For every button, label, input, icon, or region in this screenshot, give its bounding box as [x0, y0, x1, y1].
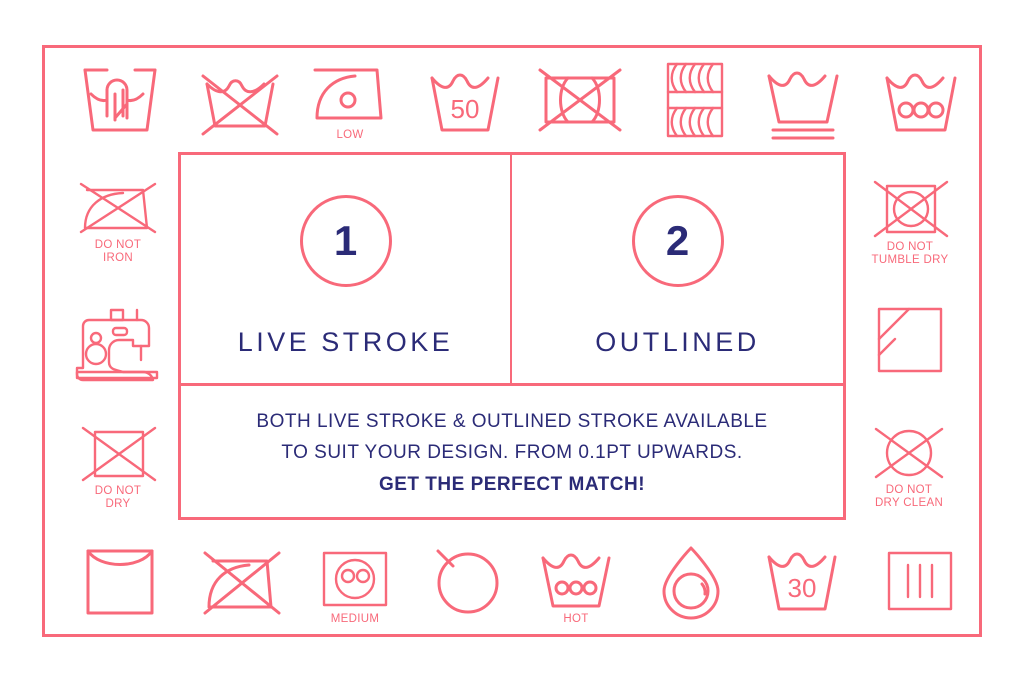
water-droplet-icon — [656, 544, 726, 618]
icon-caption: DO NOT DRY CLEAN — [875, 484, 943, 510]
icon-cell-wash-three-dots — [875, 60, 967, 143]
icon-cell-sewing-machine — [65, 300, 169, 383]
icon-cell-wash-30: 30 — [755, 545, 847, 620]
icon-cell-do-not-tumble-dry: DO NOT TUMBLE DRY — [858, 178, 962, 267]
panel-label-2: OUTLINED — [595, 327, 760, 358]
panel-outlined: 2 OUTLINED — [512, 155, 843, 383]
do-not-tumble-dry-icon — [861, 178, 959, 238]
icon-caption: MEDIUM — [331, 613, 379, 626]
do-not-dry-icon — [73, 424, 163, 482]
panel-number-badge-1: 1 — [300, 195, 392, 287]
wash-30-icon: 30 — [759, 545, 843, 617]
center-panel-block: 1 LIVE STROKE 2 OUTLINED BOTH LIVE STROK… — [178, 152, 846, 520]
button-medium-icon — [319, 548, 391, 610]
panel-label-1: LIVE STROKE — [238, 327, 454, 358]
laundry-care-symbols-poster: LOW 50 — [0, 0, 1024, 682]
icon-cell-do-not-dry-clean: DO NOT DRY CLEAN — [853, 425, 965, 510]
wash-temp-value: 30 — [788, 573, 817, 603]
icon-cell-yarn-skein — [655, 58, 735, 145]
wash-temp-value: 50 — [451, 94, 480, 124]
dry-in-shade-icon — [873, 303, 947, 375]
wash-very-gentle-icon — [759, 60, 847, 142]
wash-three-dots-icon — [877, 60, 965, 140]
icon-caption: LOW — [336, 129, 363, 142]
panel-number-1: 1 — [334, 220, 357, 262]
hand-wash-icon — [77, 60, 163, 140]
wash-50-icon: 50 — [422, 60, 508, 140]
icon-cell-drip-dry-square — [75, 545, 165, 620]
panel-live-stroke: 1 LIVE STROKE — [181, 155, 512, 383]
icon-cell-wash-50: 50 — [420, 60, 510, 143]
sewing-machine-icon — [67, 300, 167, 380]
icon-caption: DO NOT IRON — [95, 239, 142, 265]
description-area: BOTH LIVE STROKE & OUTLINED STROKE AVAIL… — [181, 386, 843, 520]
icon-cell-dry-clean-circle — [420, 545, 512, 620]
icon-cell-do-not-wring — [532, 60, 628, 143]
drip-dry-lines-icon — [884, 548, 956, 614]
do-not-iron-cross-icon — [197, 545, 285, 617]
icon-cell-button-medium: MEDIUM — [310, 548, 400, 626]
yarn-skein-icon — [660, 58, 730, 142]
icon-cell-do-not-wash — [195, 60, 285, 143]
icon-cell-dry-in-shade — [865, 303, 955, 378]
icon-caption: DO NOT TUMBLE DRY — [872, 241, 949, 267]
do-not-iron-icon — [73, 178, 163, 236]
icon-cell-do-not-dry: DO NOT DRY — [70, 424, 166, 511]
icon-cell-do-not-iron: DO NOT IRON — [70, 178, 166, 265]
icon-cell-hand-wash — [75, 60, 165, 143]
icon-cell-iron-low: LOW — [305, 62, 395, 142]
description-line-2: TO SUIT YOUR DESIGN. FROM 0.1PT UPWARDS. — [281, 437, 742, 468]
panel-number-2: 2 — [666, 220, 689, 262]
icon-cell-wash-hot: HOT — [530, 550, 622, 626]
do-not-wash-icon — [197, 60, 283, 140]
do-not-wring-icon — [534, 60, 626, 140]
drip-dry-square-icon — [82, 545, 158, 617]
iron-low-icon — [307, 62, 393, 126]
icon-cell-do-not-iron-cross — [195, 545, 287, 620]
icon-cell-wash-very-gentle — [757, 60, 849, 145]
icon-cell-water-droplet — [648, 544, 734, 621]
icon-caption: DO NOT DRY — [95, 485, 142, 511]
icon-cell-drip-dry-lines — [875, 548, 965, 617]
wash-hot-icon — [535, 550, 617, 610]
do-not-dry-clean-icon — [860, 425, 958, 481]
panel-number-badge-2: 2 — [632, 195, 724, 287]
description-line-1: BOTH LIVE STROKE & OUTLINED STROKE AVAIL… — [256, 406, 767, 437]
dry-clean-circle-icon — [424, 545, 508, 617]
icon-caption: HOT — [563, 613, 588, 626]
description-line-3: GET THE PERFECT MATCH! — [379, 469, 645, 500]
